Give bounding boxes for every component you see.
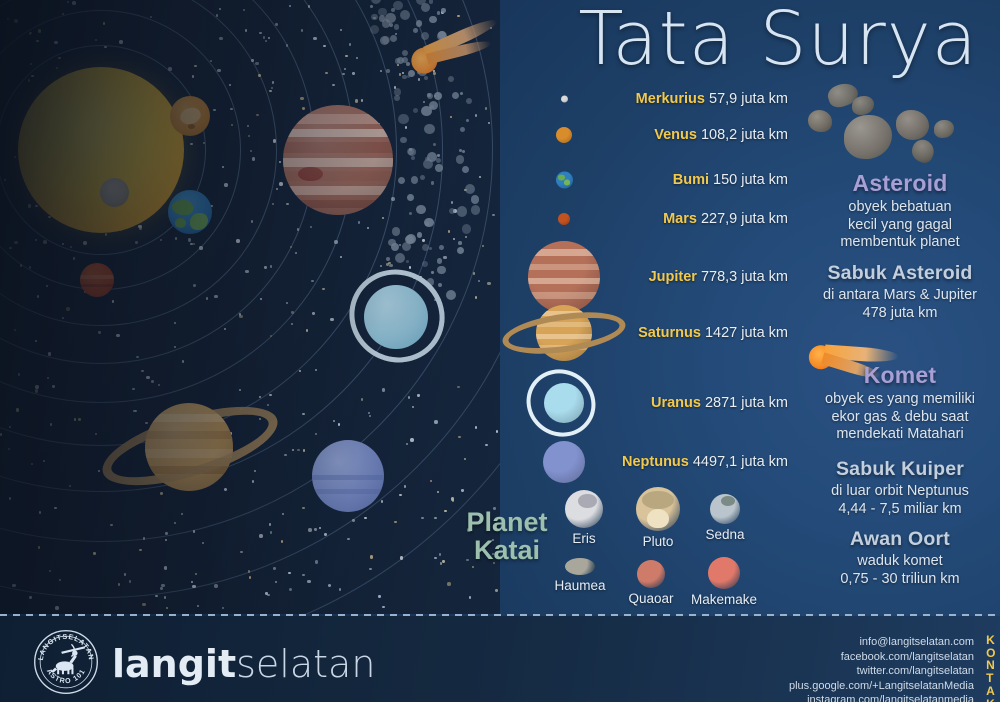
asteroid-dot <box>394 95 400 101</box>
star <box>8 448 10 450</box>
kontak-letter: A <box>986 685 996 698</box>
star <box>35 205 37 207</box>
star <box>37 295 39 297</box>
star <box>239 315 243 319</box>
star <box>164 596 166 598</box>
star <box>48 352 52 356</box>
star <box>213 109 215 111</box>
uranus-ring <box>514 356 608 449</box>
asteroid-dot <box>456 155 465 164</box>
star <box>308 5 310 7</box>
star <box>400 556 404 560</box>
asteroid-dot <box>413 108 418 113</box>
dwarf-planet-item: Makemake <box>688 557 760 607</box>
star <box>236 239 240 243</box>
star <box>160 587 162 589</box>
star <box>18 373 20 375</box>
star <box>308 528 312 532</box>
star <box>31 463 33 465</box>
star <box>461 489 463 491</box>
brand-light: selatan <box>236 642 375 686</box>
star <box>216 14 218 16</box>
asteroid-dot <box>436 158 441 163</box>
dwarf-planet-item: Haumea <box>544 558 616 593</box>
kontak-letter: T <box>986 672 996 685</box>
quaoar-icon <box>637 560 665 588</box>
dwarf-planet-name: Haumea <box>544 578 616 593</box>
planet-name: Saturnus <box>638 325 701 341</box>
asteroid-dot <box>391 8 395 12</box>
star <box>361 398 363 400</box>
star <box>312 312 314 314</box>
star <box>14 329 16 331</box>
asteroid-dot <box>441 8 446 13</box>
sedna-icon <box>710 494 740 524</box>
star <box>259 32 261 34</box>
star <box>358 221 360 223</box>
star <box>434 557 436 559</box>
star <box>35 385 39 389</box>
star <box>93 552 95 554</box>
star <box>302 413 304 415</box>
asteroid-dot <box>386 69 390 73</box>
dwarf-heading-line1: Planet <box>452 508 562 536</box>
uranus-illustration <box>335 262 460 372</box>
star <box>191 581 193 583</box>
pluto-icon <box>636 487 680 531</box>
star <box>29 596 31 598</box>
dwarf-planet-name: Makemake <box>688 592 760 607</box>
star <box>421 517 423 519</box>
star <box>267 594 269 596</box>
star <box>437 154 439 156</box>
star <box>325 72 327 74</box>
asteroid-dot <box>380 36 389 45</box>
asteroid-dot <box>407 194 414 201</box>
star <box>74 418 76 420</box>
star <box>230 108 232 110</box>
section-body-sabuk-asteroid: di antara Mars & Jupiter478 juta km <box>800 287 1000 322</box>
star <box>199 246 203 250</box>
star <box>405 126 407 128</box>
section-sabuk-asteroid: Sabuk Asteroiddi antara Mars & Jupiter47… <box>800 262 1000 322</box>
star <box>302 574 304 576</box>
asteroid-dot <box>457 206 468 217</box>
star <box>251 59 253 61</box>
star <box>165 532 167 534</box>
star <box>339 588 341 590</box>
star <box>105 233 107 235</box>
star <box>313 37 317 41</box>
star <box>338 423 340 425</box>
star <box>28 79 30 81</box>
earth-illustration <box>168 190 212 234</box>
asteroid-cluster-illustration <box>800 82 1000 168</box>
section-line: obyek es yang memiliki <box>800 391 1000 409</box>
planet-distance: 1427 juta km <box>701 325 788 341</box>
section-title-asteroid: Asteroid <box>800 170 1000 197</box>
star <box>355 99 359 103</box>
star <box>72 1 76 5</box>
section-line: di luar orbit Neptunus <box>800 483 1000 501</box>
langitselatan-logo: LANGITSELATAN ASTRO 101 <box>32 628 100 696</box>
star <box>464 458 466 460</box>
asteroid-dot <box>392 227 401 236</box>
asteroid-dot <box>431 181 435 185</box>
star <box>175 237 177 239</box>
star <box>299 370 301 372</box>
contact-line[interactable]: plus.google.com/+LangitselatanMedia <box>789 679 974 694</box>
star <box>479 176 481 178</box>
dwarf-planet-item: Quaoar <box>615 560 687 606</box>
star <box>281 540 283 542</box>
planet-distance: 227,9 juta km <box>697 211 788 227</box>
planet-label: Saturnus 1427 juta km <box>638 325 788 341</box>
star <box>214 584 218 588</box>
star <box>217 69 221 73</box>
star <box>276 188 278 190</box>
sun-illustration <box>18 67 184 233</box>
star <box>495 589 497 591</box>
asteroid-dot <box>417 232 422 237</box>
star <box>192 75 194 77</box>
asteroid-dot <box>407 75 410 78</box>
asteroid-dot <box>408 148 415 155</box>
star <box>193 530 195 532</box>
star <box>268 37 270 39</box>
star <box>222 166 224 168</box>
star <box>417 394 419 396</box>
saturn-illustration <box>95 378 285 518</box>
star <box>190 143 192 145</box>
star <box>168 67 172 71</box>
asteroid-dot <box>382 19 391 28</box>
star <box>39 511 41 513</box>
star <box>301 29 303 31</box>
star <box>38 546 40 548</box>
planet-row: Venus 108,2 juta km <box>528 134 788 135</box>
star <box>291 311 293 313</box>
asteroid-dot <box>462 150 465 153</box>
star <box>324 533 326 535</box>
planet-name: Neptunus <box>622 454 689 470</box>
contact-list: info@langitselatan.comfacebook.com/langi… <box>789 635 974 702</box>
star <box>300 97 304 101</box>
star <box>29 266 31 268</box>
star <box>14 19 18 23</box>
star <box>104 46 106 48</box>
star <box>249 576 251 578</box>
dwarf-planet-item: Sedna <box>689 494 761 542</box>
brand-wordmark: langitselatan <box>112 642 375 686</box>
star <box>442 560 444 562</box>
star <box>457 15 459 17</box>
jupiter-list-icon <box>528 241 600 313</box>
star <box>259 534 263 538</box>
planet-name: Bumi <box>673 172 709 188</box>
star <box>378 595 380 597</box>
asteroid-dot <box>466 98 472 104</box>
contact-line[interactable]: twitter.com/langitselatan <box>789 664 974 679</box>
asteroid-dot <box>429 16 437 24</box>
star <box>297 228 299 230</box>
dwarf-planet-item: Eris <box>548 490 620 546</box>
mercury-illustration <box>100 178 129 207</box>
star <box>31 75 33 77</box>
right-info-column: Asteroidobyek bebatuankecil yang gagalme… <box>800 0 1000 614</box>
star <box>139 549 141 551</box>
star <box>422 239 424 241</box>
section-asteroid: Asteroidobyek bebatuankecil yang gagalme… <box>800 170 1000 252</box>
asteroid-dot <box>462 224 472 234</box>
asteroid-dot <box>429 0 434 4</box>
star <box>116 334 120 338</box>
asteroid-dot <box>394 88 402 96</box>
footer: LANGITSELATAN ASTRO 101 <box>0 616 1000 702</box>
planet-label: Bumi 150 juta km <box>673 172 788 188</box>
star <box>16 408 20 412</box>
section-line: waduk komet <box>800 553 1000 571</box>
contact-line[interactable]: facebook.com/langitselatan <box>789 650 974 665</box>
asteroid-dot <box>416 205 425 214</box>
star <box>9 497 11 499</box>
planet-label: Jupiter 778,3 juta km <box>649 269 788 285</box>
star <box>98 331 100 333</box>
star <box>289 5 291 7</box>
star <box>286 44 288 46</box>
asteroid-dot <box>398 114 408 124</box>
planet-label: Mars 227,9 juta km <box>663 211 788 227</box>
star <box>394 521 396 523</box>
star <box>245 29 247 31</box>
solar-system-illustration <box>0 0 500 614</box>
asteroid-dot <box>394 24 400 30</box>
star <box>307 580 311 584</box>
contact-line[interactable]: instagram.com/langitselatanmedia <box>789 693 974 702</box>
section-line: ekor gas & debu saat <box>800 409 1000 427</box>
star <box>330 318 334 322</box>
star <box>369 568 371 570</box>
section-body-sabuk-kuiper: di luar orbit Neptunus4,44 - 7,5 miliar … <box>800 483 1000 518</box>
asteroid-dot <box>465 184 475 194</box>
dwarf-planet-heading: Planet Katai <box>452 508 562 565</box>
star <box>485 444 487 446</box>
star <box>443 256 447 260</box>
star <box>52 385 54 387</box>
star <box>78 418 80 420</box>
asteroid-dot <box>416 20 422 26</box>
star <box>35 389 39 393</box>
kontak-vertical-label: KONTAK <box>986 634 996 702</box>
section-komet: Kometobyek es yang memilikiekor gas & de… <box>800 362 1000 444</box>
makemake-icon <box>708 557 740 589</box>
planet-name: Jupiter <box>649 269 697 285</box>
star <box>457 386 459 388</box>
merkurius-list-icon <box>561 95 568 102</box>
section-line: membentuk planet <box>800 234 1000 252</box>
star <box>118 583 120 585</box>
star <box>124 573 126 575</box>
venus-illustration <box>170 96 210 136</box>
section-title-awan-oort: Awan Oort <box>800 528 1000 551</box>
asteroid-dot <box>427 93 431 97</box>
star <box>334 240 338 244</box>
eris-icon <box>565 490 603 528</box>
star <box>275 23 277 25</box>
star <box>112 300 114 302</box>
venus-list-icon <box>556 127 572 143</box>
neptunus-list-icon <box>543 441 585 483</box>
star <box>245 270 249 274</box>
star <box>265 592 267 594</box>
star <box>58 57 60 59</box>
star <box>119 40 123 44</box>
section-title-komet: Komet <box>800 362 1000 389</box>
planet-row: Bumi 150 juta km <box>528 179 788 180</box>
star <box>28 204 32 208</box>
section-awan-oort: Awan Oortwaduk komet0,75 - 30 triliun km <box>800 528 1000 588</box>
star <box>475 296 477 298</box>
planet-distance: 4497,1 juta km <box>689 454 788 470</box>
planet-label: Venus 108,2 juta km <box>654 127 788 143</box>
star <box>487 282 491 286</box>
star <box>314 528 316 530</box>
planet-row: Uranus 2871 juta km <box>528 402 788 403</box>
infographic-poster: Tata Surya Merkurius 57,9 juta kmVenus 1… <box>0 0 1000 702</box>
asteroid-dot <box>437 11 440 14</box>
planet-distance: 2871 juta km <box>701 395 788 411</box>
star <box>136 356 138 358</box>
asteroid-dot <box>406 62 410 66</box>
asteroid-dot <box>400 137 407 144</box>
kontak-letter: K <box>986 698 996 702</box>
star <box>297 449 299 451</box>
planet-distance: 778,3 juta km <box>697 269 788 285</box>
star <box>229 84 231 86</box>
star <box>83 241 87 245</box>
asteroid-dot <box>393 1 402 10</box>
section-line: 478 juta km <box>800 305 1000 323</box>
mars-illustration <box>80 263 114 297</box>
section-line: obyek bebatuan <box>800 199 1000 217</box>
planet-distance: 108,2 juta km <box>697 127 788 143</box>
planet-row: Neptunus 4497,1 juta km <box>528 461 788 462</box>
dwarf-planet-name: Sedna <box>689 527 761 542</box>
section-title-sabuk-kuiper: Sabuk Kuiper <box>800 458 1000 481</box>
contact-line[interactable]: info@langitselatan.com <box>789 635 974 650</box>
dwarf-planet-name: Eris <box>548 531 620 546</box>
star <box>263 36 265 38</box>
asteroid-dot <box>435 164 443 172</box>
asteroid-dot <box>411 176 418 183</box>
jupiter-illustration <box>283 105 393 215</box>
star <box>434 517 436 519</box>
star <box>143 537 145 539</box>
dwarf-planet-item: Pluto <box>622 487 694 549</box>
section-body-asteroid: obyek bebatuankecil yang gagalmembentuk … <box>800 199 1000 252</box>
star <box>288 572 290 574</box>
star <box>73 257 75 259</box>
star <box>224 183 228 187</box>
star <box>322 288 324 290</box>
star <box>164 566 168 570</box>
star <box>475 426 477 428</box>
planet-distance: 57,9 juta km <box>705 91 788 107</box>
section-title-sabuk-asteroid: Sabuk Asteroid <box>800 262 1000 285</box>
star <box>129 580 131 582</box>
bumi-list-icon <box>556 171 573 188</box>
planet-row: Merkurius 57,9 juta km <box>528 98 788 99</box>
star <box>55 606 59 610</box>
section-sabuk-kuiper: Sabuk Kuiperdi luar orbit Neptunus4,44 -… <box>800 458 1000 518</box>
star <box>182 360 184 362</box>
asteroid-dot <box>458 241 462 245</box>
star <box>43 240 47 244</box>
star <box>381 500 383 502</box>
neptune-illustration <box>312 440 384 512</box>
asteroid-dot <box>471 205 480 214</box>
section-line: 0,75 - 30 triliun km <box>800 571 1000 589</box>
asteroid-dot <box>371 14 378 21</box>
svg-text:LANGITSELATAN: LANGITSELATAN <box>37 633 95 661</box>
star <box>194 65 196 67</box>
brand-bold: langit <box>112 642 236 686</box>
section-line: kecil yang gagal <box>800 217 1000 235</box>
star <box>434 420 438 424</box>
star <box>142 603 146 607</box>
haumea-icon <box>565 558 595 575</box>
star <box>410 438 414 442</box>
section-line: di antara Mars & Jupiter <box>800 287 1000 305</box>
planet-name: Mars <box>663 211 697 227</box>
star <box>66 307 70 311</box>
kontak-letter: K <box>986 634 996 647</box>
star <box>439 553 441 555</box>
star <box>269 90 271 92</box>
saturn-ring <box>500 305 628 360</box>
star <box>258 74 260 76</box>
star <box>161 584 165 588</box>
star <box>12 584 16 588</box>
star <box>54 507 56 509</box>
dwarf-planet-name: Quaoar <box>615 591 687 606</box>
asteroid-dot <box>452 92 459 99</box>
star <box>352 72 354 74</box>
star <box>273 567 275 569</box>
section-line: mendekati Matahari <box>800 426 1000 444</box>
planet-label: Merkurius 57,9 juta km <box>636 91 788 107</box>
star <box>472 566 474 568</box>
star <box>382 606 384 608</box>
star <box>155 595 157 597</box>
asteroid-dot <box>439 245 444 250</box>
star <box>345 55 347 57</box>
planet-row: Mars 227,9 juta km <box>528 218 788 219</box>
asteroid-dot <box>471 195 480 204</box>
mars-list-icon <box>558 213 570 225</box>
star <box>219 8 221 10</box>
star <box>214 295 218 299</box>
section-body-komet: obyek es yang memilikiekor gas & debu sa… <box>800 391 1000 444</box>
star <box>402 72 404 74</box>
asteroid-dot <box>390 35 397 42</box>
star <box>138 225 142 229</box>
asteroid-dot <box>449 208 455 214</box>
star <box>270 265 272 267</box>
dwarf-planet-name: Pluto <box>622 534 694 549</box>
star <box>141 370 143 372</box>
section-body-awan-oort: waduk komet0,75 - 30 triliun km <box>800 553 1000 588</box>
